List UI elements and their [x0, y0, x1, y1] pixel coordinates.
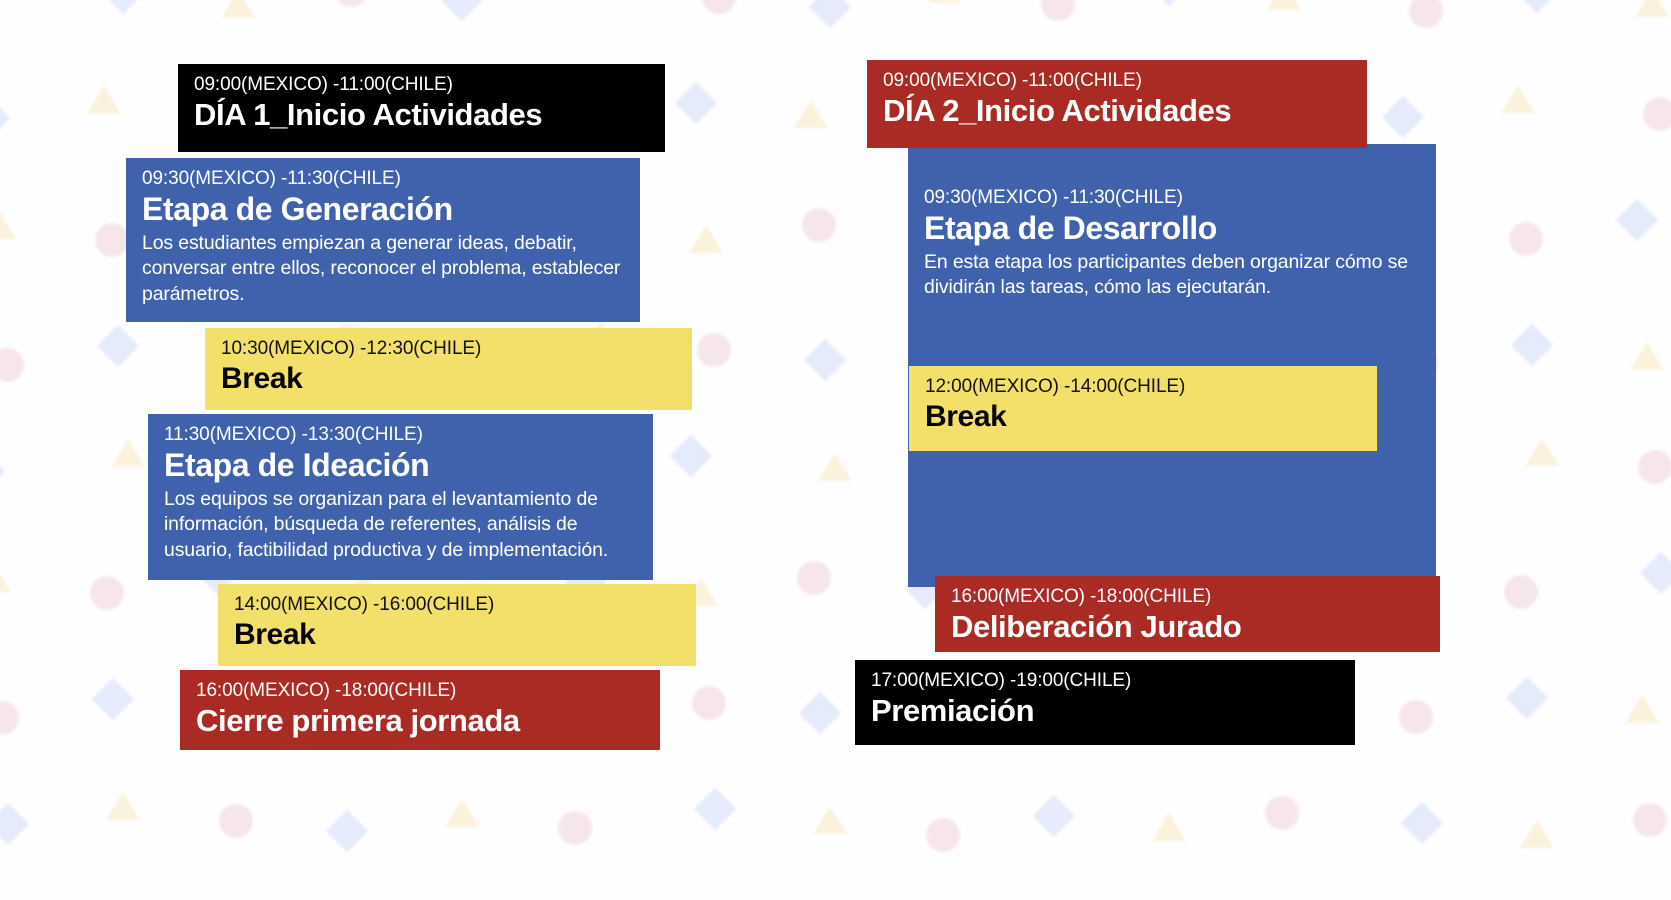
- schedule-block-day1-opening[interactable]: 09:00(MEXICO) -11:00(CHILE) DÍA 1_Inicio…: [178, 64, 665, 152]
- block-time: 14:00(MEXICO) -16:00(CHILE): [234, 593, 680, 617]
- block-time: 10:30(MEXICO) -12:30(CHILE): [221, 337, 676, 361]
- block-description: Los equipos se organizan para el levanta…: [164, 487, 637, 563]
- block-time: 12:00(MEXICO) -14:00(CHILE): [925, 375, 1361, 399]
- schedule-block-cierre-primera-jornada[interactable]: 16:00(MEXICO) -18:00(CHILE) Cierre prime…: [180, 670, 660, 750]
- block-title: Etapa de Desarrollo: [924, 211, 1420, 247]
- block-time: 09:30(MEXICO) -11:30(CHILE): [142, 167, 624, 191]
- block-time: 17:00(MEXICO) -19:00(CHILE): [871, 669, 1339, 693]
- block-time: 09:30(MEXICO) -11:30(CHILE): [924, 186, 1420, 210]
- block-title: Etapa de Generación: [142, 192, 624, 228]
- block-title: DÍA 1_Inicio Actividades: [194, 98, 649, 133]
- block-time: 16:00(MEXICO) -18:00(CHILE): [196, 679, 644, 703]
- block-title: DÍA 2_Inicio Actividades: [883, 94, 1351, 129]
- schedule-block-day1-break-1[interactable]: 10:30(MEXICO) -12:30(CHILE) Break: [205, 328, 692, 410]
- schedule-block-etapa-ideacion[interactable]: 11:30(MEXICO) -13:30(CHILE) Etapa de Ide…: [148, 414, 653, 580]
- block-title: Break: [221, 362, 676, 396]
- schedule-block-day2-opening[interactable]: 09:00(MEXICO) -11:00(CHILE) DÍA 2_Inicio…: [867, 60, 1367, 148]
- block-time: 16:00(MEXICO) -18:00(CHILE): [951, 585, 1424, 609]
- block-time: 11:30(MEXICO) -13:30(CHILE): [164, 423, 637, 447]
- schedule-block-day2-break[interactable]: 12:00(MEXICO) -14:00(CHILE) Break: [909, 366, 1377, 451]
- block-description: En esta etapa los participantes deben or…: [924, 250, 1420, 301]
- schedule-block-day1-break-2[interactable]: 14:00(MEXICO) -16:00(CHILE) Break: [218, 584, 696, 666]
- schedule-block-deliberacion-jurado[interactable]: 16:00(MEXICO) -18:00(CHILE) Deliberación…: [935, 576, 1440, 652]
- block-title: Premiación: [871, 694, 1339, 729]
- block-time: 09:00(MEXICO) -11:00(CHILE): [883, 69, 1351, 93]
- block-title: Break: [925, 400, 1361, 434]
- block-time: 09:00(MEXICO) -11:00(CHILE): [194, 73, 649, 97]
- block-title: Deliberación Jurado: [951, 610, 1424, 645]
- agenda-board: 09:00(MEXICO) -11:00(CHILE) DÍA 1_Inicio…: [0, 0, 1671, 900]
- schedule-block-etapa-generacion[interactable]: 09:30(MEXICO) -11:30(CHILE) Etapa de Gen…: [126, 158, 640, 322]
- block-title: Etapa de Ideación: [164, 448, 637, 484]
- block-description: Los estudiantes empiezan a generar ideas…: [142, 231, 624, 307]
- block-title: Cierre primera jornada: [196, 704, 644, 739]
- block-title: Break: [234, 618, 680, 652]
- schedule-block-premiacion[interactable]: 17:00(MEXICO) -19:00(CHILE) Premiación: [855, 660, 1355, 745]
